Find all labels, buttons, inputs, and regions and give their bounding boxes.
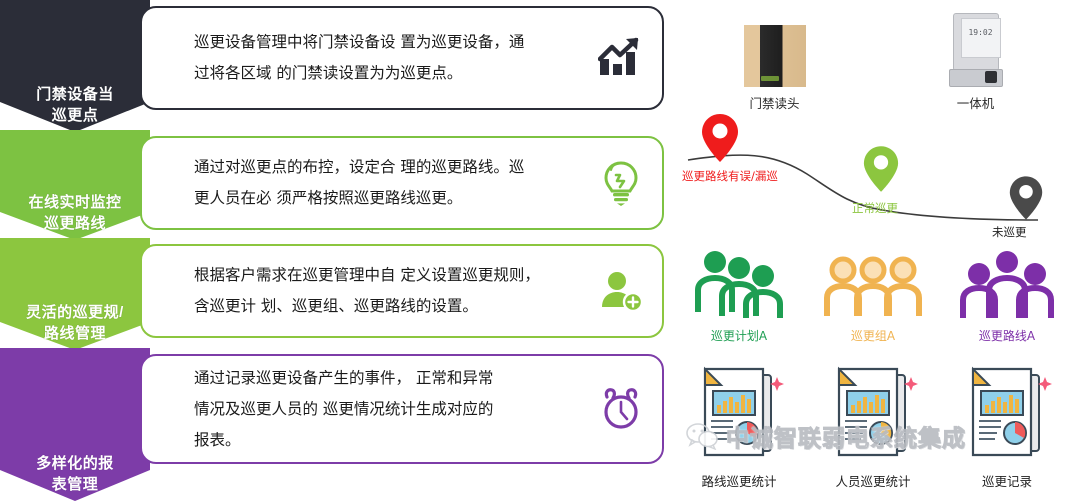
chevron-label: 在线实时监控 巡更路线 <box>0 192 150 234</box>
device-caption: 门禁读头 <box>744 93 806 112</box>
patrol-route-diagram: 巡更路线有误/漏巡 正常巡更 未巡更 <box>672 112 1074 242</box>
report-route-stats: 路线巡更统计 <box>693 359 785 490</box>
terminal-base <box>949 69 1003 87</box>
feature-card-diverse-report-management[interactable]: 通过记录巡更设备产生的事件， 正常和异常 情况及巡更人员的 巡更情况统计生成对应… <box>140 354 664 464</box>
feature-row-online-realtime-monitor[interactable]: 在线实时监控 巡更路线 通过对巡更点的布控，设定合 理的巡更路线。巡 更人员在必… <box>0 130 672 240</box>
group-team-a: 巡更组A <box>821 246 925 344</box>
reports-row: 路线巡更统计 <box>672 360 1074 490</box>
feature-row-flexible-patrol-rules[interactable]: 灵活的巡更规/ 路线管理 根据客户需求在巡更管理中自 定义设置巡更规则， 含巡更… <box>0 238 672 350</box>
feature-description: 通过对巡更点的布控，设定合 理的巡更路线。巡 更人员在必 须严格按照巡更路线巡更… <box>142 148 580 218</box>
feature-description: 巡更设备管理中将门禁设备设 置为巡更设备，通 过将各区域 的门禁读设置为为巡更点… <box>142 23 580 93</box>
feature-card-flexible-patrol-rules[interactable]: 根据客户需求在巡更管理中自 定义设置巡更规则， 含巡更计 划、巡更组、巡更路线的… <box>140 244 664 338</box>
report-person-stats: 人员巡更统计 <box>827 359 919 490</box>
people-group-icon <box>687 246 791 318</box>
group-caption: 巡更计划A <box>687 327 791 344</box>
device-all-in-one-terminal: 19:02 一体机 <box>949 13 1003 112</box>
report-document-icon <box>961 359 1053 463</box>
all-in-one-terminal-photo: 19:02 <box>949 13 1003 87</box>
access-reader-photo <box>744 25 806 87</box>
chevron-title-line2: 表管理 <box>0 474 150 495</box>
report-document-icon <box>693 359 785 463</box>
patrol-groups-row: 巡更计划A 巡更组A <box>672 248 1074 344</box>
lightbulb-icon <box>580 138 662 228</box>
people-group-icon <box>821 246 925 318</box>
terminal-card-reader <box>985 71 997 83</box>
pin-error-label: 巡更路线有误/漏巡 <box>682 168 778 184</box>
chevron-flexible-patrol-rules[interactable]: 灵活的巡更规/ 路线管理 <box>0 238 150 350</box>
device-caption: 一体机 <box>949 93 1003 112</box>
feature-card-online-realtime-monitor[interactable]: 通过对巡更点的布控，设定合 理的巡更路线。巡 更人员在必 须严格按照巡更路线巡更… <box>140 136 664 230</box>
report-caption: 路线巡更统计 <box>693 471 785 490</box>
chevron-title-line1: 灵活的巡更规/ <box>0 302 150 323</box>
chevron-label: 门禁设备当 巡更点 <box>0 84 150 126</box>
growth-chart-icon <box>580 8 662 108</box>
pin-error[interactable] <box>700 112 740 164</box>
device-access-reader: 门禁读头 <box>744 25 806 112</box>
pin-missed-label: 未巡更 <box>992 224 1027 240</box>
chevron-title-line2: 巡更点 <box>0 105 150 126</box>
pin-normal-label: 正常巡更 <box>852 200 898 216</box>
slide-canvas: 门禁设备当 巡更点 巡更设备管理中将门禁设备设 置为巡更设备，通 过将各区域 的… <box>0 0 1074 501</box>
user-add-icon <box>580 246 662 336</box>
feature-row-diverse-report-management[interactable]: 多样化的报 表管理 通过记录巡更设备产生的事件， 正常和异常 情况及巡更人员的 … <box>0 348 672 501</box>
chevron-title-line2: 路线管理 <box>0 323 150 344</box>
people-group-icon <box>955 246 1059 318</box>
chevron-online-realtime-monitor[interactable]: 在线实时监控 巡更路线 <box>0 130 150 240</box>
feature-description: 通过记录巡更设备产生的事件， 正常和异常 情况及巡更人员的 巡更情况统计生成对应… <box>142 359 580 460</box>
group-plan-a: 巡更计划A <box>687 246 791 344</box>
feature-card-access-device-as-patrol-point[interactable]: 巡更设备管理中将门禁设备设 置为巡更设备，通 过将各区域 的门禁读设置为为巡更点… <box>140 6 664 110</box>
report-document-icon <box>827 359 919 463</box>
chevron-diverse-report-management[interactable]: 多样化的报 表管理 <box>0 348 150 501</box>
chevron-label: 多样化的报 表管理 <box>0 453 150 495</box>
chevron-title-line1: 多样化的报 <box>0 453 150 474</box>
alarm-clock-icon <box>580 356 662 462</box>
report-patrol-records: 巡更记录 <box>961 359 1053 490</box>
group-caption: 巡更组A <box>821 327 925 344</box>
pin-normal[interactable] <box>862 144 900 194</box>
group-caption: 巡更路线A <box>955 327 1059 344</box>
terminal-body: 19:02 <box>953 13 999 71</box>
feature-description: 根据客户需求在巡更管理中自 定义设置巡更规则， 含巡更计 划、巡更组、巡更路线的… <box>142 256 580 326</box>
terminal-screen: 19:02 <box>961 18 1001 58</box>
features-list: 门禁设备当 巡更点 巡更设备管理中将门禁设备设 置为巡更设备，通 过将各区域 的… <box>0 0 672 501</box>
report-caption: 巡更记录 <box>961 471 1053 490</box>
group-route-a: 巡更路线A <box>955 246 1059 344</box>
illustration-panel: 门禁读头 19:02 一体机 <box>672 0 1074 501</box>
chevron-title-line2: 巡更路线 <box>0 213 150 234</box>
devices-row: 门禁读头 19:02 一体机 <box>672 8 1074 112</box>
chevron-title-line1: 在线实时监控 <box>0 192 150 213</box>
chevron-title-line1: 门禁设备当 <box>0 84 150 105</box>
chevron-access-device-as-patrol-point[interactable]: 门禁设备当 巡更点 <box>0 0 150 132</box>
chevron-label: 灵活的巡更规/ 路线管理 <box>0 302 150 344</box>
feature-row-access-device-as-patrol-point[interactable]: 门禁设备当 巡更点 巡更设备管理中将门禁设备设 置为巡更设备，通 过将各区域 的… <box>0 0 672 132</box>
report-caption: 人员巡更统计 <box>827 471 919 490</box>
pin-missed[interactable] <box>1008 174 1044 222</box>
